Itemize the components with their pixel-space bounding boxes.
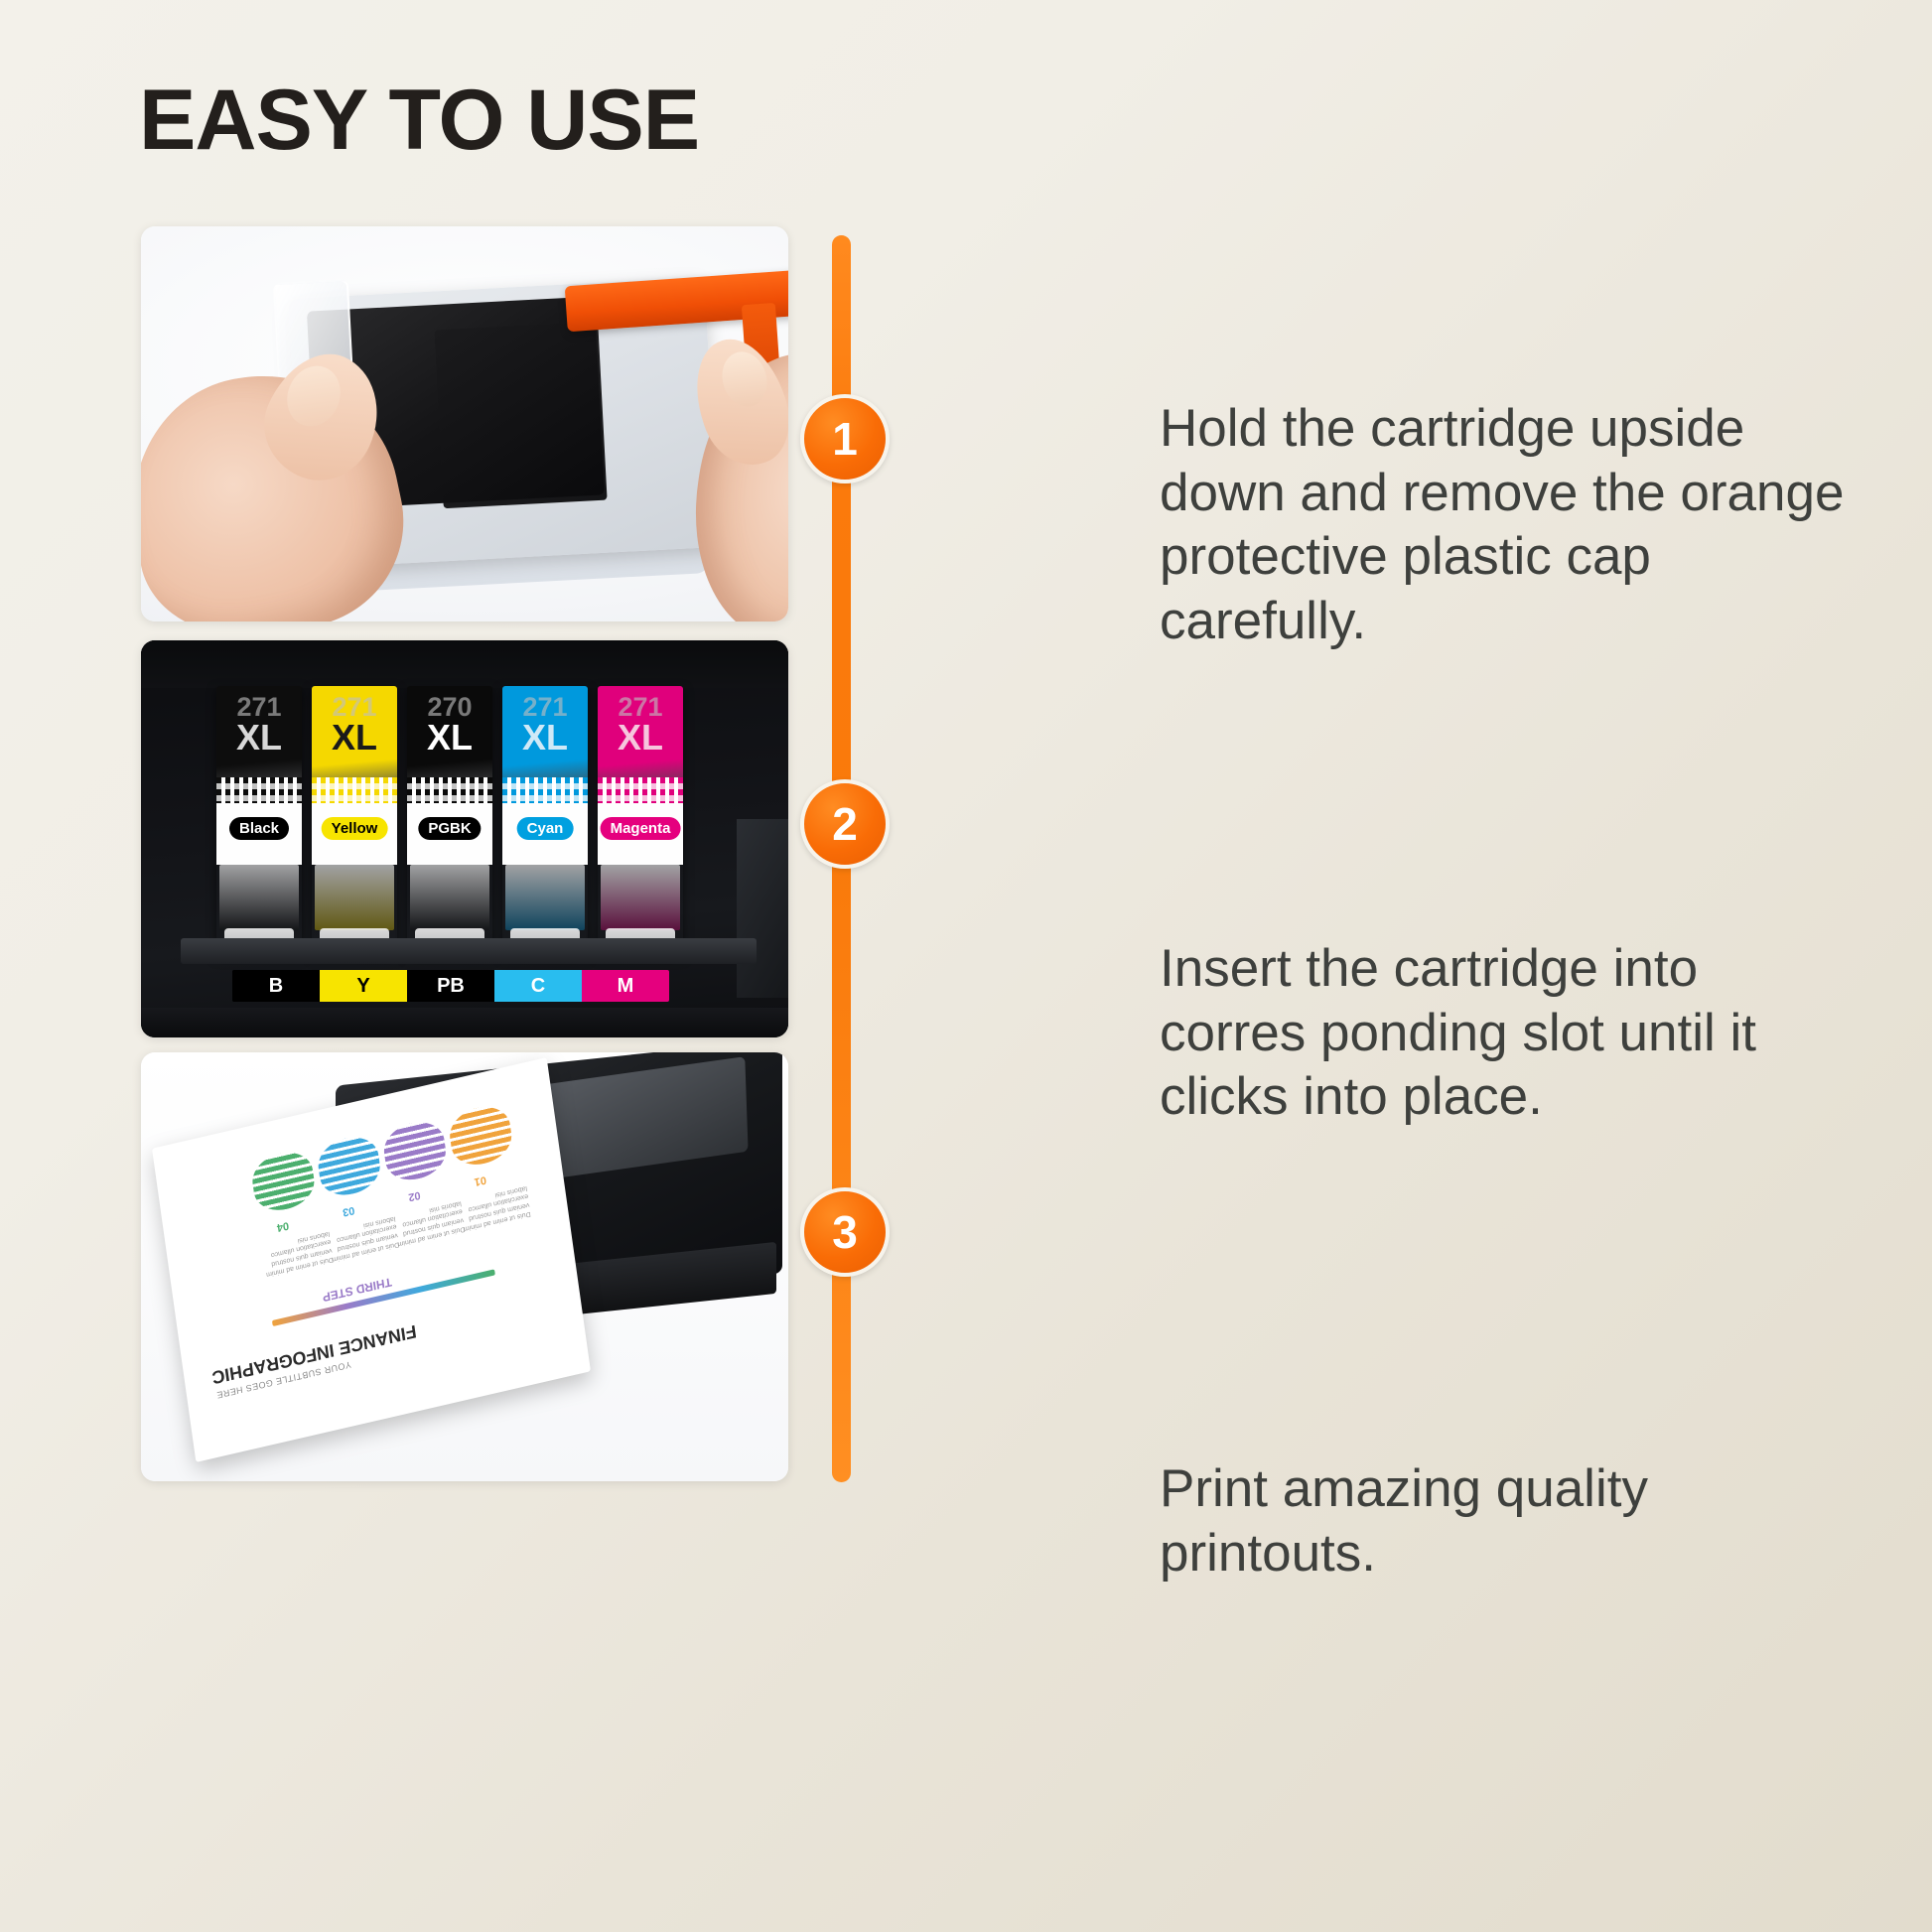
printout-step-02: 02 xyxy=(408,1188,422,1203)
printout-blob-2 xyxy=(381,1116,449,1185)
cartridge-color-pill: Cyan xyxy=(517,817,574,840)
cartridge-ink-tank xyxy=(410,865,489,930)
cartridge-yellow: 271XLYellow xyxy=(312,686,397,954)
cartridge-size-xl: XL xyxy=(502,720,588,756)
slot-label-bar: BYPBCM xyxy=(232,970,669,1002)
cartridge-dark-panel-2 xyxy=(434,322,607,508)
cartridge-color-pill: PGBK xyxy=(418,817,481,840)
printout-blob-4 xyxy=(249,1147,317,1216)
cartridge-size-xl: XL xyxy=(312,720,397,756)
carriage-cartridge-row: 271XLBlack271XLYellow270XLPGBK271XLCyan2… xyxy=(203,686,729,974)
printout-step-01: 01 xyxy=(474,1173,487,1188)
cartridge-ink-tank xyxy=(219,865,299,930)
cartridge-magenta: 271XLMagenta xyxy=(598,686,683,954)
carriage-rail xyxy=(181,938,757,964)
photo-cartridge-cap-removal xyxy=(141,226,788,621)
cartridge-pgbk: 270XLPGBK xyxy=(407,686,492,954)
cartridge-ink-tank xyxy=(505,865,585,930)
carriage-right-body xyxy=(737,819,788,998)
photo-printed-output: FINANCE INFOGRAPHIC YOUR SUBTITLE GOES H… xyxy=(141,1052,788,1481)
step-badge-3[interactable]: 3 xyxy=(800,1187,890,1277)
step-text-3: Print amazing quality printouts. xyxy=(1160,1457,1855,1586)
slot-label-c: C xyxy=(494,970,582,1002)
infographic-page: EASY TO USE 271XLBlack271XLYellow270XLPG… xyxy=(0,0,1932,1932)
printout-blob-1 xyxy=(447,1101,514,1171)
cartridge-ink-tank xyxy=(601,865,680,930)
step-text-2: Insert the cartridge into corres ponding… xyxy=(1160,937,1855,1130)
step-badge-1[interactable]: 1 xyxy=(800,394,890,483)
cartridge-size-xl: XL xyxy=(598,720,683,756)
slot-label-b: B xyxy=(232,970,320,1002)
cartridge-color-pill: Yellow xyxy=(322,817,388,840)
carriage-top-shadow xyxy=(141,640,788,688)
cartridge-color-pill: Magenta xyxy=(601,817,681,840)
printout-step-04: 04 xyxy=(276,1219,290,1234)
photo-printer-carriage: 271XLBlack271XLYellow270XLPGBK271XLCyan2… xyxy=(141,640,788,1037)
cartridge-color-pill: Black xyxy=(229,817,289,840)
printout-blob-3 xyxy=(316,1132,383,1201)
slot-label-m: M xyxy=(582,970,669,1002)
printout-step-03: 03 xyxy=(342,1204,355,1219)
slot-label-pb: PB xyxy=(407,970,494,1002)
cartridge-size-xl: XL xyxy=(407,720,492,756)
cartridge-ink-tank xyxy=(315,865,394,930)
step-text-1: Hold the cartridge upside down and remov… xyxy=(1160,397,1855,654)
carriage-bottom-shadow xyxy=(141,1008,788,1037)
slot-label-y: Y xyxy=(320,970,407,1002)
step-badge-2[interactable]: 2 xyxy=(800,779,890,869)
printout-body-text-4: Duis ut enim ad minim veniam quis nostru… xyxy=(253,1228,334,1280)
cartridge-black: 271XLBlack xyxy=(216,686,302,954)
cartridge-cyan: 271XLCyan xyxy=(502,686,588,954)
page-title: EASY TO USE xyxy=(139,77,699,163)
cartridge-size-xl: XL xyxy=(216,720,302,756)
